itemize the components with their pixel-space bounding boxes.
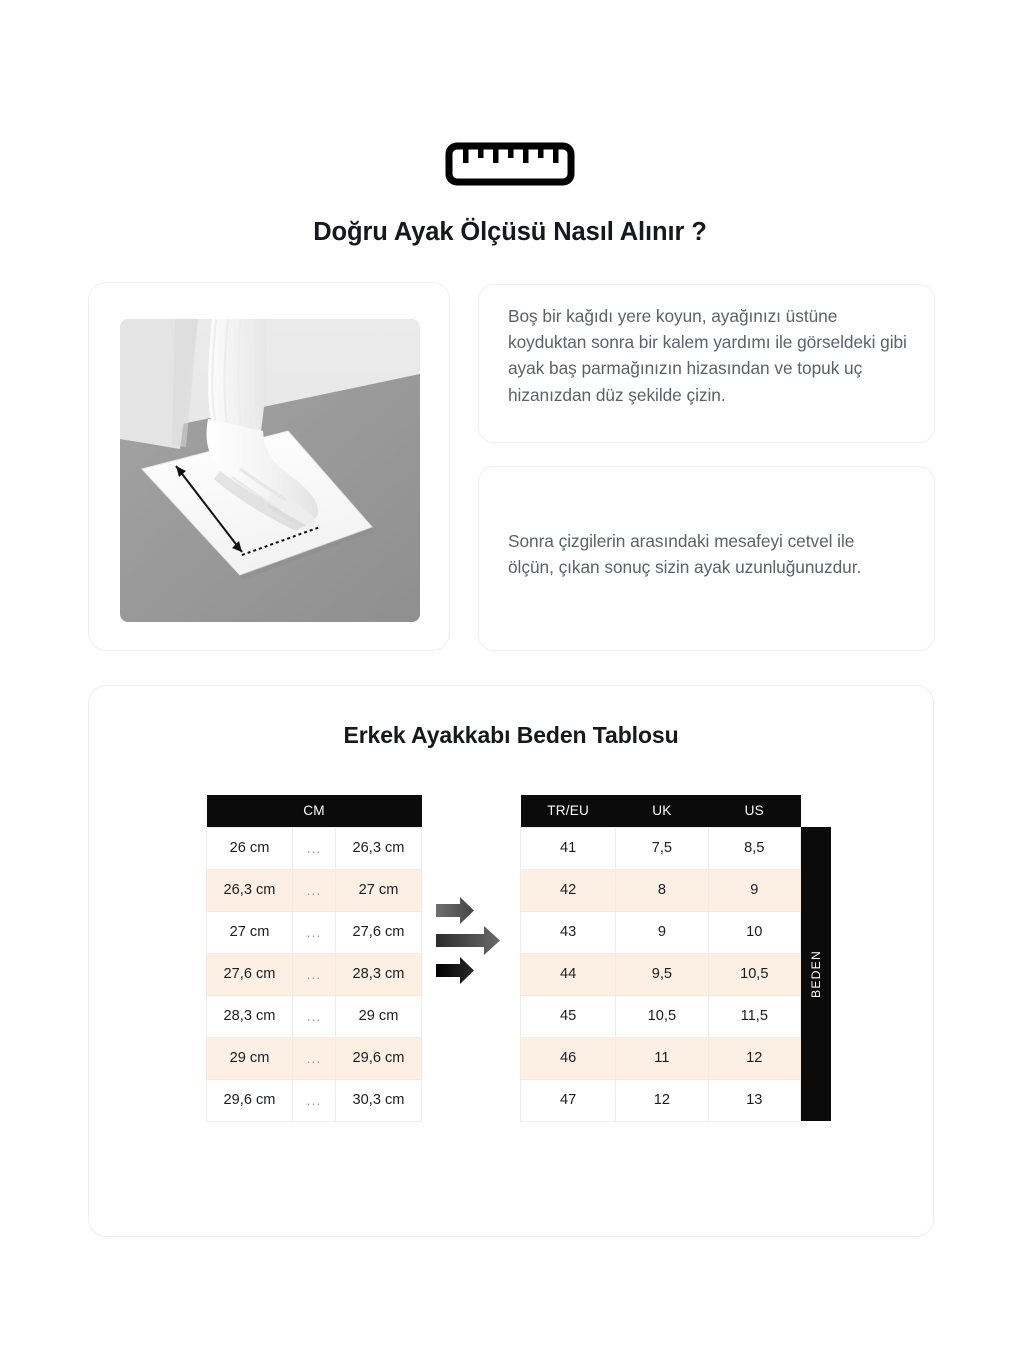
ruler-icon xyxy=(445,142,575,186)
cm-to: 27 cm xyxy=(336,869,422,911)
size-uk: 10,5 xyxy=(616,995,708,1037)
instruction-text-1: Boş bir kağıdı yere koyun, ayağınızı üst… xyxy=(508,303,908,408)
table-row: 43 9 10 xyxy=(521,911,801,953)
table-row: 28,3 cm ... 29 cm xyxy=(207,995,422,1037)
size-us: 10 xyxy=(708,911,800,953)
size-chart-title: Erkek Ayakkabı Beden Tablosu xyxy=(89,722,933,749)
cm-table-header-row: CM xyxy=(207,795,422,827)
cm-from: 26,3 cm xyxy=(207,869,293,911)
cm-sep: ... xyxy=(293,869,336,911)
size-table: TR/EU UK US 41 7,5 8,5 42 8 9 43 xyxy=(520,795,801,1122)
size-us: 11,5 xyxy=(708,995,800,1037)
cm-sep: ... xyxy=(293,1079,336,1121)
cm-from: 27 cm xyxy=(207,911,293,953)
size-us: 13 xyxy=(708,1079,800,1121)
size-uk: 8 xyxy=(616,869,708,911)
table-row: 26,3 cm ... 27 cm xyxy=(207,869,422,911)
size-header-treu: TR/EU xyxy=(521,795,616,827)
instruction-card-1: Boş bir kağıdı yere koyun, ayağınızı üst… xyxy=(478,284,935,443)
cm-from: 26 cm xyxy=(207,827,293,869)
page-title: Doğru Ayak Ölçüsü Nasıl Alınır ? xyxy=(0,218,1020,247)
table-row: 47 12 13 xyxy=(521,1079,801,1121)
table-row: 45 10,5 11,5 xyxy=(521,995,801,1037)
size-header-us: US xyxy=(708,795,800,827)
size-guide-page: Doğru Ayak Ölçüsü Nasıl Alınır ? xyxy=(0,0,1020,1360)
table-row: 26 cm ... 26,3 cm xyxy=(207,827,422,869)
size-us: 9 xyxy=(708,869,800,911)
table-row: 42 8 9 xyxy=(521,869,801,911)
beden-side-label: BEDEN xyxy=(801,827,831,1121)
table-row: 46 11 12 xyxy=(521,1037,801,1079)
cm-table-header: CM xyxy=(207,795,422,827)
arrows-right-icon xyxy=(434,895,512,985)
size-header-uk: UK xyxy=(616,795,708,827)
table-row: 29 cm ... 29,6 cm xyxy=(207,1037,422,1079)
cm-to: 30,3 cm xyxy=(336,1079,422,1121)
size-uk: 9 xyxy=(616,911,708,953)
cm-to: 29,6 cm xyxy=(336,1037,422,1079)
size-us: 10,5 xyxy=(708,953,800,995)
instruction-card-2: Sonra çizgilerin arasındaki mesafeyi cet… xyxy=(478,466,935,651)
cm-sep: ... xyxy=(293,1037,336,1079)
size-treu: 41 xyxy=(521,827,616,869)
table-row: 27,6 cm ... 28,3 cm xyxy=(207,953,422,995)
cm-to: 29 cm xyxy=(336,995,422,1037)
cm-to: 27,6 cm xyxy=(336,911,422,953)
table-row: 29,6 cm ... 30,3 cm xyxy=(207,1079,422,1121)
cm-table: CM 26 cm ... 26,3 cm 26,3 cm ... 27 cm 2… xyxy=(206,795,422,1122)
table-row: 41 7,5 8,5 xyxy=(521,827,801,869)
cm-to: 28,3 cm xyxy=(336,953,422,995)
size-treu: 43 xyxy=(521,911,616,953)
size-treu: 46 xyxy=(521,1037,616,1079)
cm-to: 26,3 cm xyxy=(336,827,422,869)
size-treu: 42 xyxy=(521,869,616,911)
size-chart-card: Erkek Ayakkabı Beden Tablosu CM 26 cm ..… xyxy=(88,685,934,1237)
cm-sep: ... xyxy=(293,911,336,953)
foot-measure-photo-card xyxy=(88,282,450,651)
size-treu: 44 xyxy=(521,953,616,995)
cm-from: 29,6 cm xyxy=(207,1079,293,1121)
cm-sep: ... xyxy=(293,995,336,1037)
size-treu: 47 xyxy=(521,1079,616,1121)
instruction-text-2: Sonra çizgilerin arasındaki mesafeyi cet… xyxy=(508,528,883,580)
cm-sep: ... xyxy=(293,953,336,995)
cm-from: 28,3 cm xyxy=(207,995,293,1037)
size-table-header-row: TR/EU UK US xyxy=(521,795,801,827)
beden-side-label-text: BEDEN xyxy=(809,950,823,998)
size-uk: 7,5 xyxy=(616,827,708,869)
foot-measure-photo xyxy=(120,319,420,622)
size-us: 8,5 xyxy=(708,827,800,869)
size-treu: 45 xyxy=(521,995,616,1037)
size-uk: 11 xyxy=(616,1037,708,1079)
cm-from: 27,6 cm xyxy=(207,953,293,995)
ruler-icon-wrap xyxy=(0,142,1020,186)
table-row: 27 cm ... 27,6 cm xyxy=(207,911,422,953)
size-us: 12 xyxy=(708,1037,800,1079)
cm-from: 29 cm xyxy=(207,1037,293,1079)
size-uk: 9,5 xyxy=(616,953,708,995)
size-uk: 12 xyxy=(616,1079,708,1121)
table-row: 44 9,5 10,5 xyxy=(521,953,801,995)
cm-sep: ... xyxy=(293,827,336,869)
